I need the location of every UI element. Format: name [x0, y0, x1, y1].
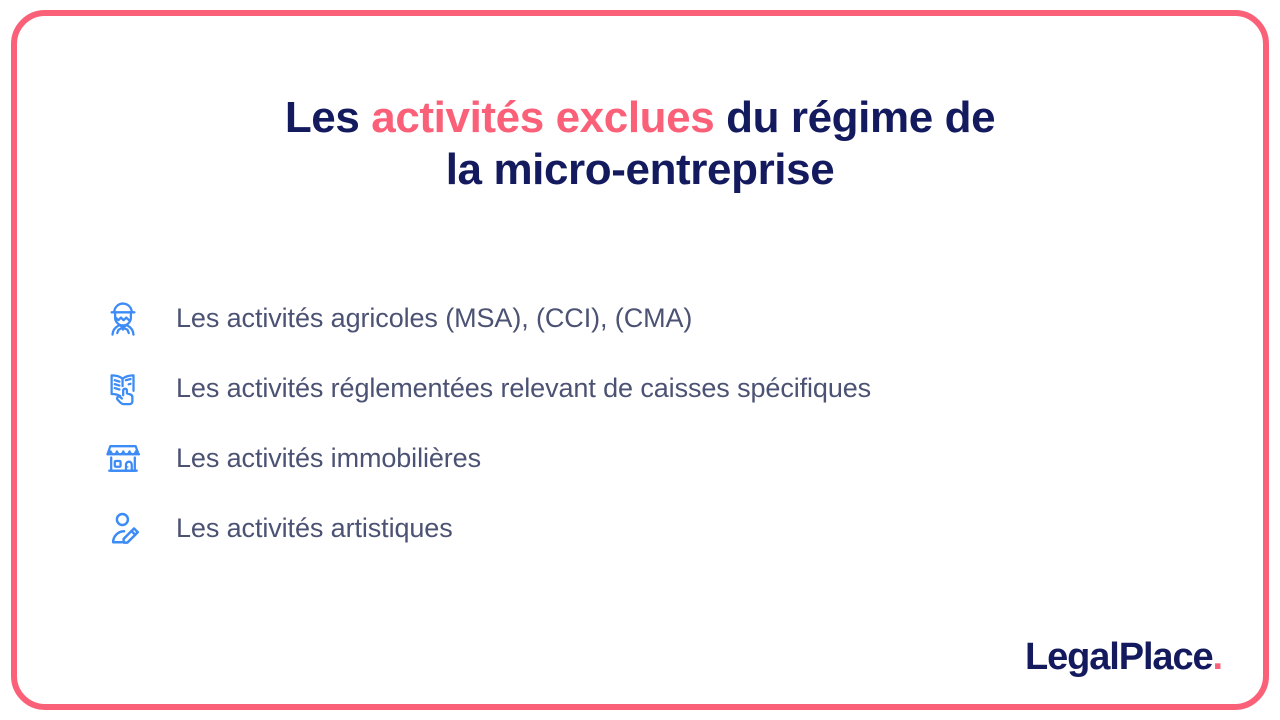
logo-wordmark: LegalPlace — [1025, 636, 1213, 678]
logo-dot: . — [1213, 636, 1222, 678]
list-item-label: Les activités réglementées relevant de c… — [176, 371, 871, 405]
list-item: Les activités agricoles (MSA), (CCI), (C… — [100, 283, 1180, 353]
list-item-label: Les activités immobilières — [176, 441, 481, 475]
list-item: Les activités immobilières — [100, 423, 1180, 493]
title-suffix: du régime de — [714, 93, 995, 142]
open-book-hand-icon — [100, 365, 146, 411]
infographic-card: Les activités exclues du régime de la mi… — [0, 0, 1280, 720]
title-accent: activités exclues — [371, 93, 714, 142]
excluded-activities-list: Les activités agricoles (MSA), (CCI), (C… — [100, 283, 1180, 563]
list-item-label: Les activités agricoles (MSA), (CCI), (C… — [176, 301, 692, 335]
title-line-1: Les activités exclues du régime de — [0, 92, 1280, 144]
title-line-2: la micro-entreprise — [0, 144, 1280, 196]
list-item-label: Les activités artistiques — [176, 511, 453, 545]
page-title: Les activités exclues du régime de la mi… — [0, 92, 1280, 196]
title-prefix: Les — [285, 93, 371, 142]
list-item: Les activités artistiques — [100, 493, 1180, 563]
legalplace-logo: LegalPlace. — [1025, 635, 1222, 679]
list-item: Les activités réglementées relevant de c… — [100, 353, 1180, 423]
storefront-icon — [100, 435, 146, 481]
farmer-icon — [100, 295, 146, 341]
person-pencil-icon — [100, 505, 146, 551]
